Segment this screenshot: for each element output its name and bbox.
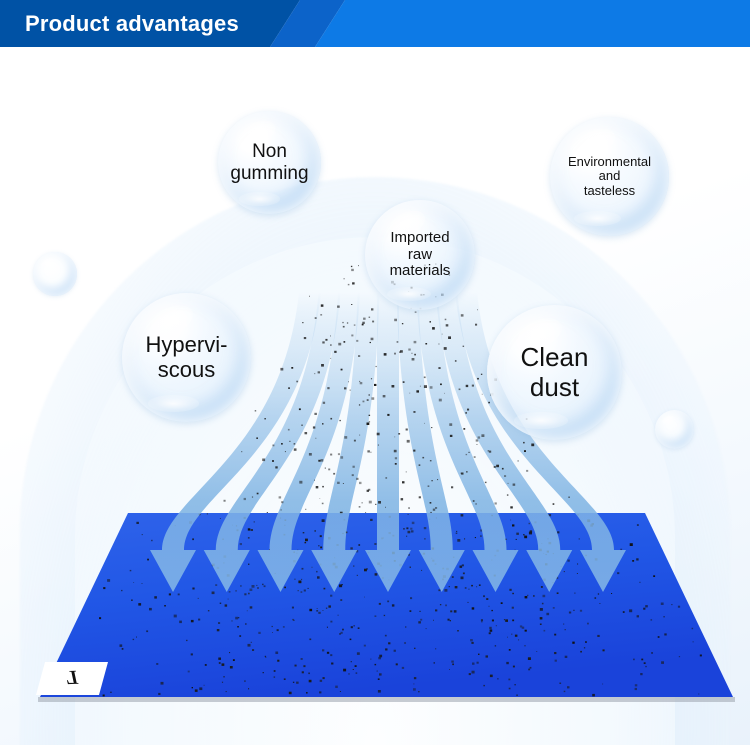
feature-bubble-label: Hypervi- scous bbox=[140, 333, 234, 382]
page-title: Product advantages bbox=[25, 0, 239, 47]
feature-bubble-label: Imported raw materials bbox=[384, 230, 457, 280]
airflow-arrow bbox=[397, 292, 465, 592]
illustration-scene: L Non gummingImported raw materialsEnvir… bbox=[0, 47, 750, 745]
feature-bubble-clean-dust[interactable]: Clean dust bbox=[487, 305, 622, 440]
feature-bubble-imported-raw[interactable]: Imported raw materials bbox=[365, 200, 475, 310]
feature-bubble-hyperviscous[interactable]: Hypervi- scous bbox=[122, 293, 251, 422]
feature-bubble-label: Non gumming bbox=[224, 141, 314, 184]
airflow-arrow bbox=[365, 292, 411, 592]
brand-logo-tab: L bbox=[36, 662, 108, 695]
airflow-arrow bbox=[311, 292, 379, 592]
feature-bubble-label: Clean dust bbox=[515, 343, 595, 401]
brand-logo-mark: L bbox=[65, 667, 78, 690]
header-banner: Product advantages bbox=[0, 0, 750, 47]
decorative-bubble-small-right bbox=[655, 410, 694, 449]
product-advantages-infographic: Product advantages bbox=[0, 0, 750, 745]
feature-bubble-label: Environmental and tasteless bbox=[562, 155, 657, 199]
feature-bubble-non-gumming[interactable]: Non gumming bbox=[218, 111, 321, 214]
feature-bubble-environmental[interactable]: Environmental and tasteless bbox=[550, 117, 669, 236]
decorative-bubble-small-left bbox=[33, 252, 77, 296]
